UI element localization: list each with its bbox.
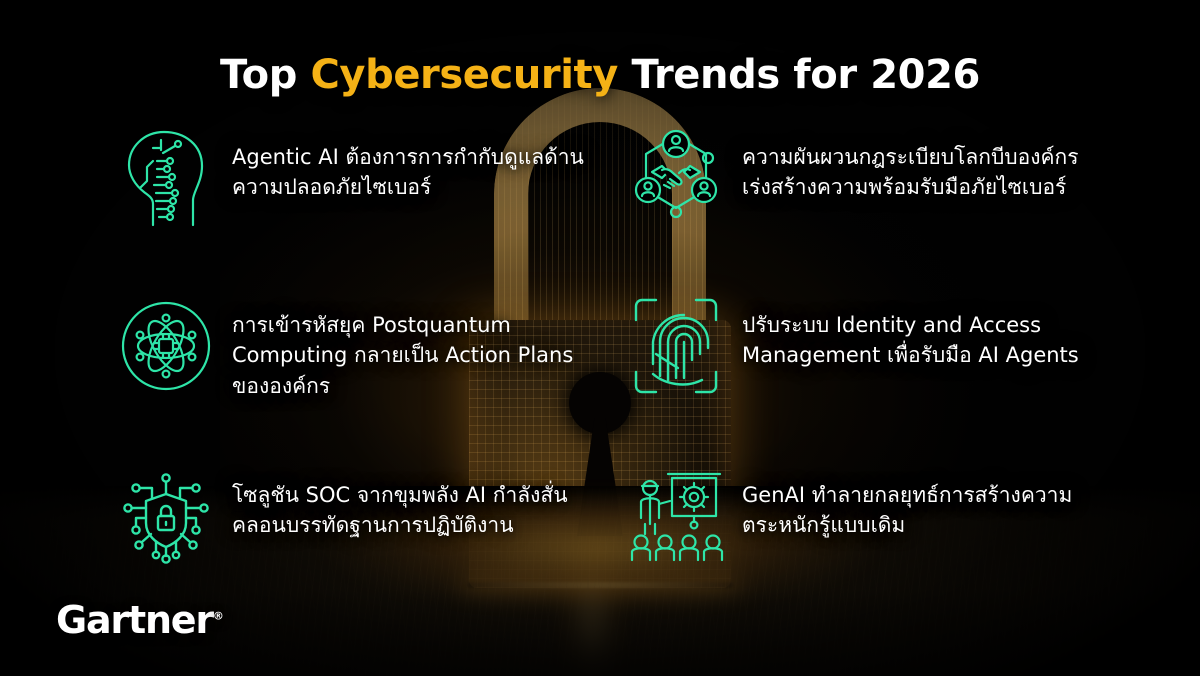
ai-head-circuit-icon bbox=[118, 128, 214, 228]
shield-lock-circuit-icon bbox=[118, 466, 214, 566]
gartner-logo: Gartner® bbox=[56, 598, 224, 642]
trend-item-5: ปรับระบบ Identity and Access Management … bbox=[628, 296, 1098, 448]
trend-item-4-text: ความผันผวนกฎระเบียบโลกบีบองค์กรเร่งสร้าง… bbox=[742, 128, 1098, 203]
title-accent-word: Cybersecurity bbox=[310, 52, 617, 98]
trend-item-6: GenAI ทำลายกลยุทธ์การสร้างความตระหนักรู้… bbox=[628, 466, 1098, 596]
gartner-logo-text: Gartner bbox=[56, 598, 213, 642]
handshake-network-icon bbox=[628, 128, 724, 228]
title-part-2: Trends for 2026 bbox=[618, 52, 980, 98]
trend-item-3-text: โซลูชัน SOC จากขุมพลัง AI กำลังสั่นคลอนบ… bbox=[232, 466, 588, 541]
trend-item-2: การเข้ารหัสยุค Postquantum Computing กลา… bbox=[118, 296, 588, 448]
trends-right-column: ความผันผวนกฎระเบียบโลกบีบองค์กรเร่งสร้าง… bbox=[628, 128, 1098, 614]
trends-left-column: Agentic AI ต้องการการกำกับดูแลด้านความปล… bbox=[118, 128, 588, 614]
registered-trademark-icon: ® bbox=[213, 609, 224, 622]
trend-item-2-text: การเข้ารหัสยุค Postquantum Computing กลา… bbox=[232, 296, 588, 401]
fingerprint-scan-icon bbox=[628, 296, 724, 396]
trend-item-4: ความผันผวนกฎระเบียบโลกบีบองค์กรเร่งสร้าง… bbox=[628, 128, 1098, 278]
page-title: Top Cybersecurity Trends for 2026 bbox=[0, 52, 1200, 98]
trend-item-6-text: GenAI ทำลายกลยุทธ์การสร้างความตระหนักรู้… bbox=[742, 466, 1098, 541]
trend-item-1: Agentic AI ต้องการการกำกับดูแลด้านความปล… bbox=[118, 128, 588, 278]
trend-item-3: โซลูชัน SOC จากขุมพลัง AI กำลังสั่นคลอนบ… bbox=[118, 466, 588, 596]
trend-item-5-text: ปรับระบบ Identity and Access Management … bbox=[742, 296, 1098, 371]
atom-quantum-icon bbox=[118, 296, 214, 396]
trend-item-1-text: Agentic AI ต้องการการกำกับดูแลด้านความปล… bbox=[232, 128, 588, 203]
title-part-1: Top bbox=[220, 52, 310, 98]
training-presentation-icon bbox=[628, 466, 724, 566]
